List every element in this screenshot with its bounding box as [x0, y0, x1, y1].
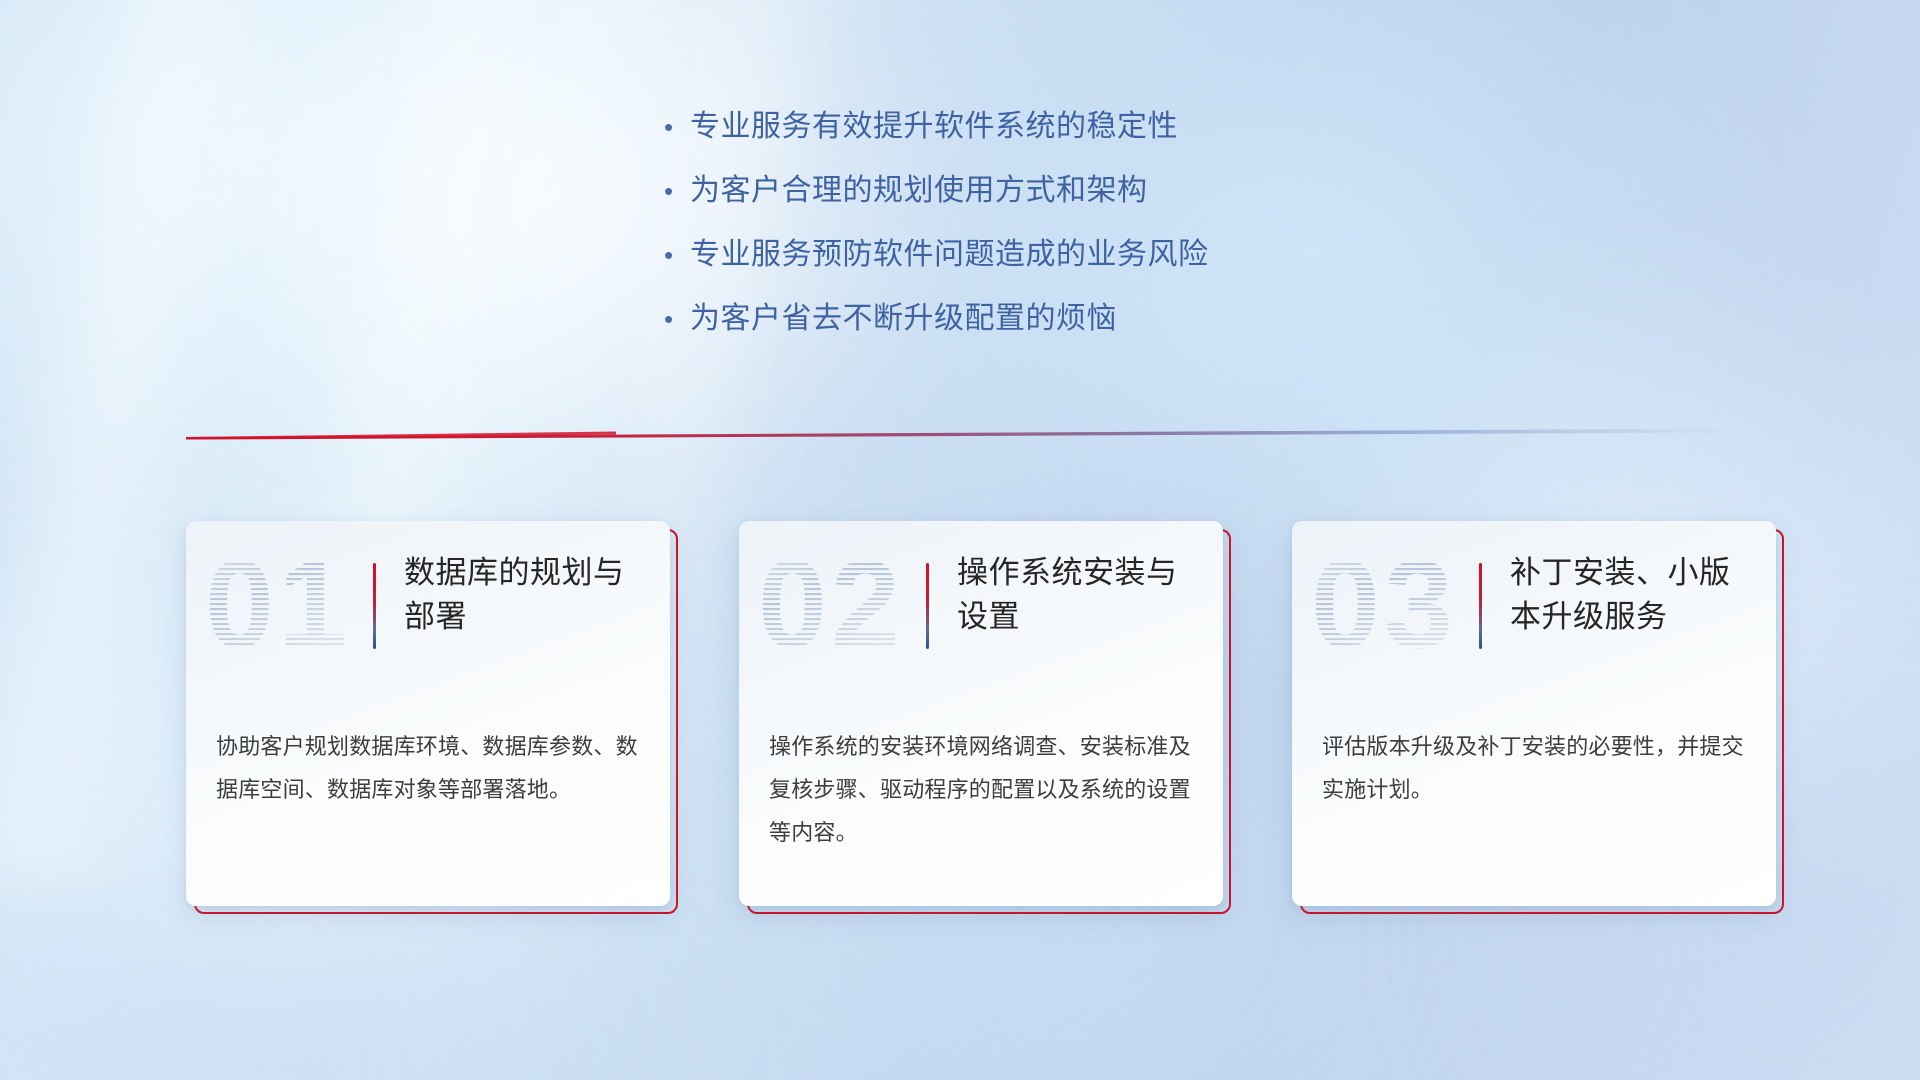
service-card[interactable]: 02 操作系统安装与设置 操作系统的安装环境网络调查、安装标准及复核步骤、驱动程…	[739, 521, 1231, 914]
svg-text:01: 01	[205, 543, 351, 667]
card-surface: 02 操作系统安装与设置 操作系统的安装环境网络调查、安装标准及复核步骤、驱动程…	[739, 521, 1223, 906]
list-item: • 专业服务有效提升软件系统的稳定性	[664, 112, 1564, 176]
card-title-rule	[1479, 563, 1482, 649]
card-description: 操作系统的安装环境网络调查、安装标准及复核步骤、驱动程序的配置以及系统的设置等内…	[769, 726, 1199, 855]
slide-canvas: • 专业服务有效提升软件系统的稳定性 • 为客户合理的规划使用方式和架构 • 专…	[0, 0, 1920, 1080]
bullet-text: 为客户省去不断升级配置的烦恼	[690, 304, 1117, 334]
card-surface: 03 补丁安装、小版本升级服务 评估版本升级及补丁安装的必要性，并提交实施计划。	[1292, 521, 1776, 906]
card-title-rule	[373, 563, 376, 649]
service-card[interactable]: 03 补丁安装、小版本升级服务 评估版本升级及补丁安装的必要性，并提交实施计划。	[1292, 521, 1784, 914]
section-divider	[186, 424, 1738, 440]
card-title: 补丁安装、小版本升级服务	[1510, 551, 1760, 639]
bullet-text: 专业服务预防软件问题造成的业务风险	[690, 240, 1209, 270]
bullet-dot-icon: •	[664, 114, 690, 140]
bullet-dot-icon: •	[664, 242, 690, 268]
service-card[interactable]: 01 数据库的规划与部署 协助客户规划数据库环境、数据库参数、数据库空间、数据库…	[186, 521, 678, 914]
card-header: 02 操作系统安装与设置	[739, 521, 1223, 717]
card-header: 03 补丁安装、小版本升级服务	[1292, 521, 1776, 717]
card-title: 数据库的规划与部署	[404, 551, 654, 639]
service-cards: 01 数据库的规划与部署 协助客户规划数据库环境、数据库参数、数据库空间、数据库…	[186, 521, 1786, 921]
bullet-text: 为客户合理的规划使用方式和架构	[690, 176, 1148, 206]
list-item: • 专业服务预防软件问题造成的业务风险	[664, 240, 1564, 304]
bullet-text: 专业服务有效提升软件系统的稳定性	[690, 112, 1178, 142]
card-surface: 01 数据库的规划与部署 协助客户规划数据库环境、数据库参数、数据库空间、数据库…	[186, 521, 670, 906]
card-number-watermark: 03	[1308, 543, 1460, 667]
card-title: 操作系统安装与设置	[957, 551, 1207, 639]
card-number-watermark: 01	[202, 543, 354, 667]
card-description: 评估版本升级及补丁安装的必要性，并提交实施计划。	[1322, 726, 1752, 812]
card-header: 01 数据库的规划与部署	[186, 521, 670, 717]
svg-text:03: 03	[1311, 543, 1457, 667]
list-item: • 为客户合理的规划使用方式和架构	[664, 176, 1564, 240]
card-number-watermark: 02	[755, 543, 907, 667]
card-description: 协助客户规划数据库环境、数据库参数、数据库空间、数据库对象等部署落地。	[216, 726, 646, 812]
bullet-dot-icon: •	[664, 306, 690, 332]
svg-text:02: 02	[758, 543, 904, 667]
card-title-rule	[926, 563, 929, 649]
benefits-bullet-list: • 专业服务有效提升软件系统的稳定性 • 为客户合理的规划使用方式和架构 • 专…	[664, 112, 1564, 368]
bullet-dot-icon: •	[664, 178, 690, 204]
list-item: • 为客户省去不断升级配置的烦恼	[664, 304, 1564, 368]
